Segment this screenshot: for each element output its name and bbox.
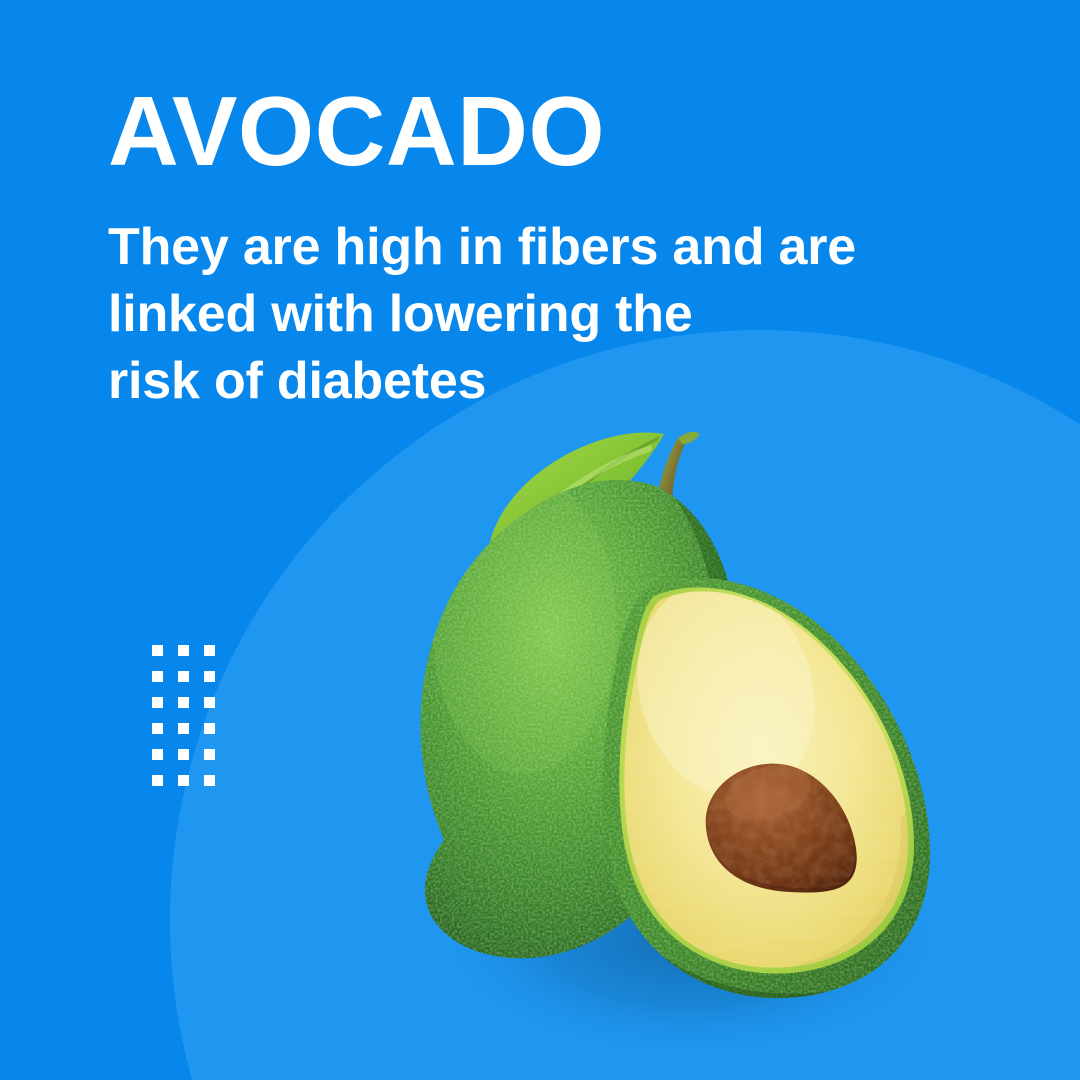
- grid-dot: [204, 645, 215, 656]
- grid-dot: [178, 723, 189, 734]
- grid-dot: [204, 671, 215, 682]
- grid-dot: [204, 775, 215, 786]
- body-line-1: They are high in fibers and are: [108, 214, 938, 281]
- grid-dot: [152, 749, 163, 760]
- grid-dot: [152, 697, 163, 708]
- dot-grid-decoration: [152, 645, 215, 786]
- grid-dot: [152, 645, 163, 656]
- grid-dot: [204, 749, 215, 760]
- fact-card: AVOCADO They are high in fibers and are …: [0, 0, 1080, 1080]
- grid-dot: [178, 697, 189, 708]
- grid-dot: [178, 645, 189, 656]
- grid-dot: [178, 775, 189, 786]
- grid-dot: [152, 723, 163, 734]
- body-line-2: linked with lowering the: [108, 281, 938, 348]
- grid-dot: [178, 671, 189, 682]
- grid-dot: [204, 723, 215, 734]
- body-line-3: risk of diabetes: [108, 348, 938, 415]
- page-title: AVOCADO: [108, 82, 938, 180]
- grid-dot: [204, 697, 215, 708]
- grid-dot: [178, 749, 189, 760]
- grid-dot: [152, 671, 163, 682]
- text-block: AVOCADO They are high in fibers and are …: [108, 82, 938, 415]
- grid-dot: [152, 775, 163, 786]
- body-text: They are high in fibers and are linked w…: [108, 214, 938, 415]
